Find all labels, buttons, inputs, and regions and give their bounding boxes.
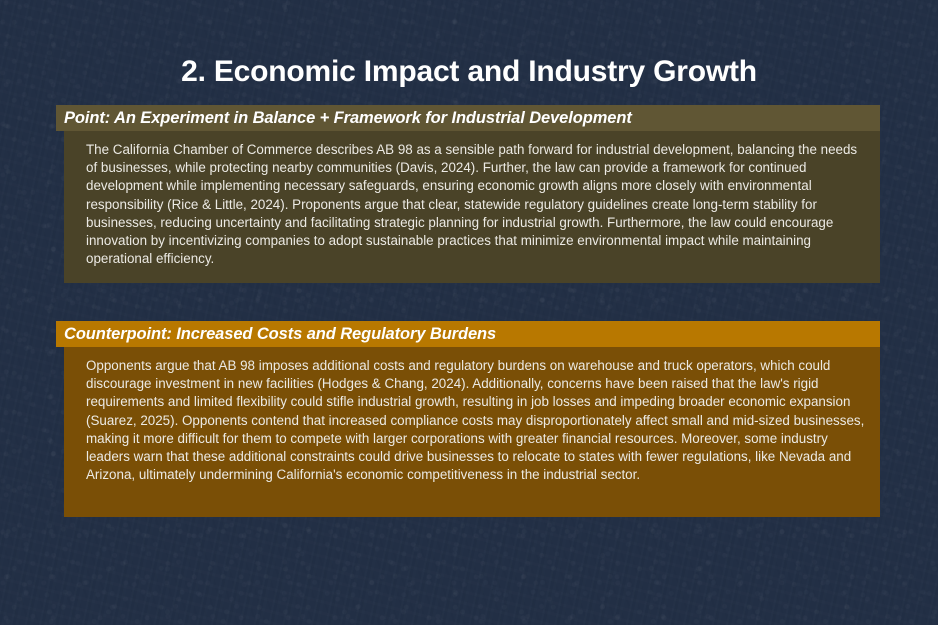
block-body-point: The California Chamber of Commerce descr… (64, 131, 880, 283)
background-texture-layer (0, 0, 938, 625)
block-header-counterpoint: Counterpoint: Increased Costs and Regula… (56, 321, 880, 347)
background-texture-overlay (0, 0, 938, 625)
content-block-point: Point: An Experiment in Balance + Framew… (56, 105, 880, 283)
content-block-counterpoint: Counterpoint: Increased Costs and Regula… (56, 321, 880, 517)
block-body-counterpoint: Opponents argue that AB 98 imposes addit… (64, 347, 880, 517)
page-title: 2. Economic Impact and Industry Growth (0, 53, 938, 91)
block-header-point: Point: An Experiment in Balance + Framew… (56, 105, 880, 131)
slide-canvas: 2. Economic Impact and Industry Growth P… (0, 0, 938, 625)
